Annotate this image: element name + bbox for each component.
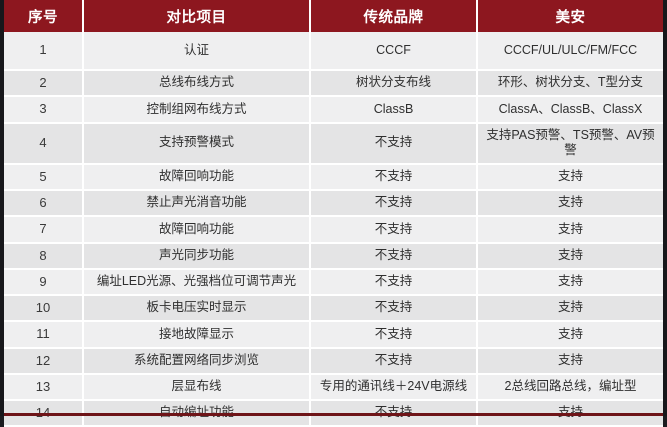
comparison-table: 序号 对比项目 传统品牌 美安 1认证CCCFCCCF/UL/ULC/FM/FC… [4, 0, 663, 427]
row-cell-trad: 不支持 [310, 123, 477, 164]
row-cell-ma: 支持 [477, 269, 663, 295]
row-cell-no: 13 [4, 374, 83, 400]
row-cell-no: 3 [4, 96, 83, 122]
row-cell-no: 2 [4, 70, 83, 96]
table-row: 4支持预警模式不支持支持PAS预警、TS预警、AV预警 [4, 123, 663, 164]
row-cell-no: 10 [4, 295, 83, 321]
row-cell-item: 板卡电压实时显示 [83, 295, 310, 321]
row-cell-ma: CCCF/UL/ULC/FM/FCC [477, 32, 663, 70]
row-cell-trad: 不支持 [310, 321, 477, 347]
row-cell-no: 7 [4, 216, 83, 242]
column-header-no: 序号 [4, 0, 83, 32]
row-cell-item: 层显布线 [83, 374, 310, 400]
table-row: 3控制组网布线方式ClassBClassA、ClassB、ClassX [4, 96, 663, 122]
row-cell-trad: 不支持 [310, 269, 477, 295]
row-cell-no: 6 [4, 190, 83, 216]
row-cell-trad: 不支持 [310, 164, 477, 190]
left-edge-strip [0, 0, 4, 416]
column-header-item: 对比项目 [83, 0, 310, 32]
row-cell-item: 支持预警模式 [83, 123, 310, 164]
row-cell-item: 总线布线方式 [83, 70, 310, 96]
row-cell-ma: 支持PAS预警、TS预警、AV预警 [477, 123, 663, 164]
row-cell-ma: 环形、树状分支、T型分支 [477, 70, 663, 96]
row-cell-no: 12 [4, 348, 83, 374]
row-cell-no: 9 [4, 269, 83, 295]
column-header-ma: 美安 [477, 0, 663, 32]
row-cell-trad: 不支持 [310, 348, 477, 374]
table-row: 1认证CCCFCCCF/UL/ULC/FM/FCC [4, 32, 663, 70]
table-row: 8声光同步功能不支持支持 [4, 243, 663, 269]
row-cell-trad: 不支持 [310, 295, 477, 321]
row-cell-trad: 树状分支布线 [310, 70, 477, 96]
table-row: 11接地故障显示不支持支持 [4, 321, 663, 347]
row-cell-item: 故障回响功能 [83, 216, 310, 242]
table-row: 9编址LED光源、光强档位可调节声光不支持支持 [4, 269, 663, 295]
row-cell-no: 5 [4, 164, 83, 190]
row-cell-ma: 支持 [477, 348, 663, 374]
row-cell-item: 故障回响功能 [83, 164, 310, 190]
row-cell-trad: 专用的通讯线＋24V电源线 [310, 374, 477, 400]
row-cell-ma: 支持 [477, 321, 663, 347]
row-cell-no: 4 [4, 123, 83, 164]
row-cell-item: 认证 [83, 32, 310, 70]
row-cell-ma: 2总线回路总线，编址型 [477, 374, 663, 400]
row-cell-trad: 不支持 [310, 190, 477, 216]
right-edge-strip [663, 0, 667, 416]
table-body: 1认证CCCFCCCF/UL/ULC/FM/FCC2总线布线方式树状分支布线环形… [4, 32, 663, 426]
row-cell-trad: 不支持 [310, 243, 477, 269]
table-row: 6禁止声光消音功能不支持支持 [4, 190, 663, 216]
header-row: 序号 对比项目 传统品牌 美安 [4, 0, 663, 32]
table-row: 13层显布线专用的通讯线＋24V电源线2总线回路总线，编址型 [4, 374, 663, 400]
row-cell-no: 1 [4, 32, 83, 70]
table-row: 10板卡电压实时显示不支持支持 [4, 295, 663, 321]
row-cell-item: 系统配置网络同步浏览 [83, 348, 310, 374]
row-cell-ma: 支持 [477, 216, 663, 242]
table-row: 2总线布线方式树状分支布线环形、树状分支、T型分支 [4, 70, 663, 96]
row-cell-item: 编址LED光源、光强档位可调节声光 [83, 269, 310, 295]
table-row: 5故障回响功能不支持支持 [4, 164, 663, 190]
row-cell-item: 声光同步功能 [83, 243, 310, 269]
column-header-trad: 传统品牌 [310, 0, 477, 32]
row-cell-trad: ClassB [310, 96, 477, 122]
row-cell-no: 11 [4, 321, 83, 347]
row-cell-trad: CCCF [310, 32, 477, 70]
row-cell-item: 禁止声光消音功能 [83, 190, 310, 216]
row-cell-trad: 不支持 [310, 216, 477, 242]
row-cell-ma: 支持 [477, 243, 663, 269]
row-cell-item: 接地故障显示 [83, 321, 310, 347]
table-header: 序号 对比项目 传统品牌 美安 [4, 0, 663, 32]
comparison-table-page: 序号 对比项目 传统品牌 美安 1认证CCCFCCCF/UL/ULC/FM/FC… [0, 0, 667, 416]
row-cell-ma: 支持 [477, 190, 663, 216]
row-cell-ma: 支持 [477, 164, 663, 190]
table-row: 12系统配置网络同步浏览不支持支持 [4, 348, 663, 374]
row-cell-ma: 支持 [477, 295, 663, 321]
row-cell-no: 8 [4, 243, 83, 269]
row-cell-item: 控制组网布线方式 [83, 96, 310, 122]
row-cell-ma: ClassA、ClassB、ClassX [477, 96, 663, 122]
table-row: 7故障回响功能不支持支持 [4, 216, 663, 242]
